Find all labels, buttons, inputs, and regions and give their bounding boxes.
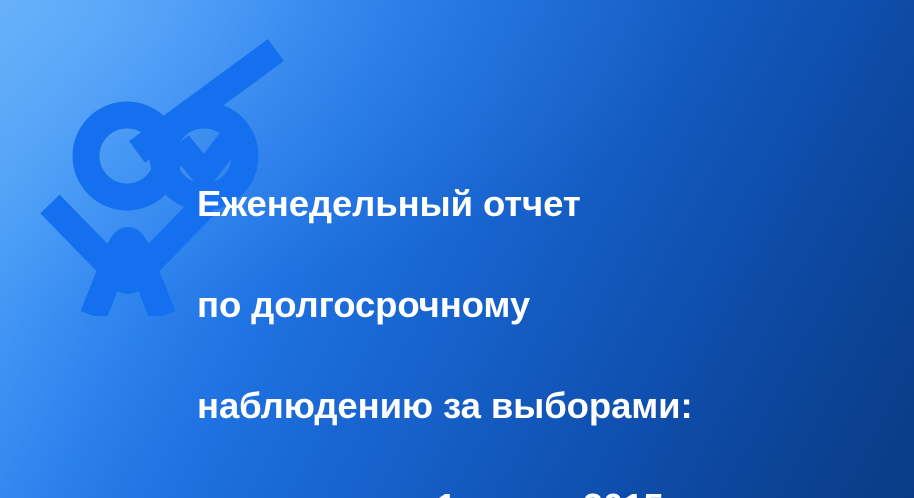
headline-line-1: Еженедельный отчет [197, 179, 887, 230]
headline-line-4: голосование 1 марта 2015 [197, 482, 887, 498]
promo-banner: Еженедельный отчет по долгосрочному набл… [0, 0, 914, 498]
page-title: Еженедельный отчет по долгосрочному набл… [197, 128, 887, 498]
headline-line-3: наблюдению за выборами: [197, 381, 887, 432]
headline-line-2: по долгосрочному [197, 280, 887, 331]
